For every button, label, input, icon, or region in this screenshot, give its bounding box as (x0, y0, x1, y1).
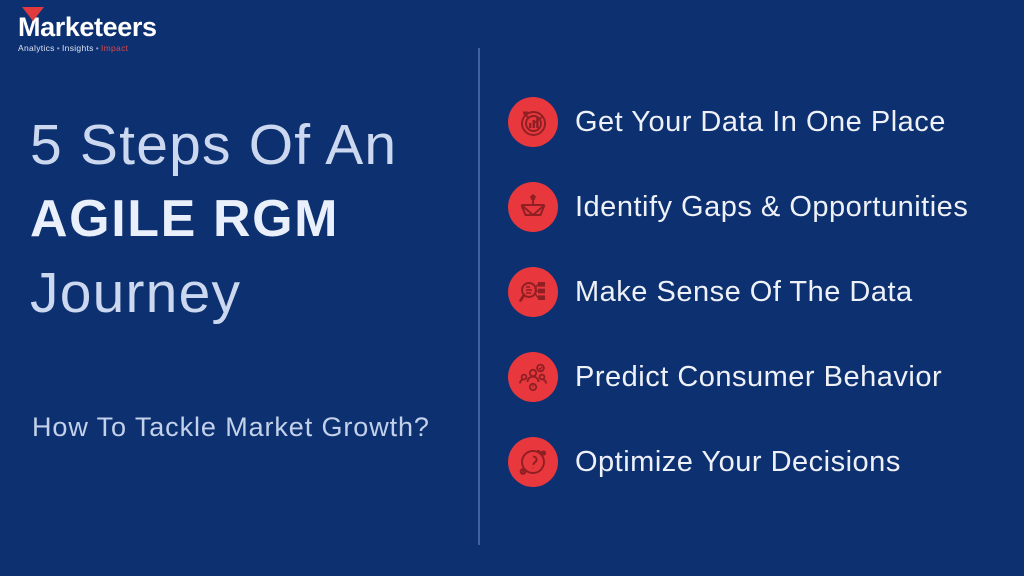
tagline-impact: Impact (101, 43, 128, 53)
magnifier-data-icon (508, 267, 558, 317)
brand-logo: Marketeers Analytics•Insights•Impact (18, 12, 168, 58)
brand-tagline: Analytics•Insights•Impact (18, 43, 168, 54)
tagline-separator-2: • (94, 43, 101, 53)
list-item-label: Make Sense Of The Data (575, 276, 913, 309)
headline-block: 5 Steps Of An AGILE RGM Journey (30, 108, 460, 330)
list-item-label: Optimize Your Decisions (575, 446, 901, 479)
tagline-insights: Insights (62, 43, 94, 53)
subtitle-text: How To Tackle Market Growth? (32, 412, 430, 443)
triangle-accent-icon (22, 7, 44, 21)
gap-balance-icon (508, 182, 558, 232)
headline-line-2: AGILE RGM (30, 182, 460, 256)
tagline-separator-1: • (55, 43, 62, 53)
headline-line-1: 5 Steps Of An (30, 108, 460, 182)
tagline-analytics: Analytics (18, 43, 55, 53)
headline-line-3: Journey (30, 256, 460, 330)
list-item: Make Sense Of The Data (508, 266, 1008, 318)
list-item-label: Predict Consumer Behavior (575, 361, 942, 394)
list-item: Get Your Data In One Place (508, 96, 1008, 148)
list-item: Identify Gaps & Opportunities (508, 181, 1008, 233)
list-item-label: Get Your Data In One Place (575, 106, 946, 139)
consumer-people-icon (508, 352, 558, 402)
brand-wordmark: Marketeers (18, 12, 168, 42)
list-item: Optimize Your Decisions (508, 436, 1008, 488)
vertical-divider (478, 48, 480, 545)
data-dashboard-icon (508, 97, 558, 147)
slide-canvas: Marketeers Analytics•Insights•Impact 5 S… (0, 0, 1024, 576)
list-item-label: Identify Gaps & Opportunities (575, 191, 968, 224)
list-item: Predict Consumer Behavior (508, 351, 1008, 403)
steps-list: Get Your Data In One Place Identify Gaps… (508, 96, 1008, 488)
optimize-gear-icon (508, 437, 558, 487)
